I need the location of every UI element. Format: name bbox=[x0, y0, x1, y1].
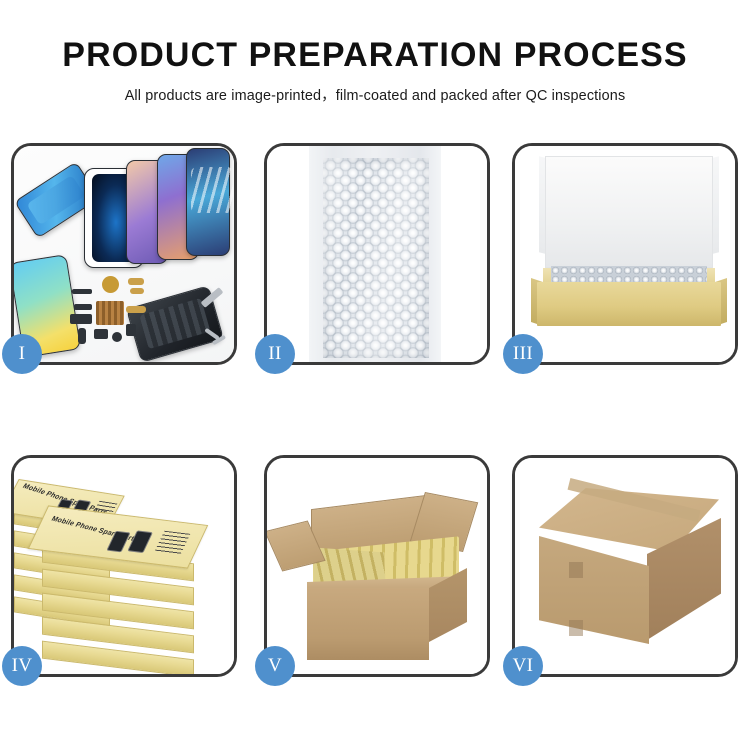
part-button bbox=[78, 328, 86, 344]
step-image-3 bbox=[515, 146, 735, 362]
steps-grid: I II III bbox=[0, 0, 750, 750]
step-badge-6: VI bbox=[503, 646, 543, 686]
step-image-5 bbox=[267, 458, 487, 674]
step-panel-2: II bbox=[264, 143, 490, 365]
inner-box-scene bbox=[515, 146, 735, 362]
box-stack: Mobile Phone Spare Parts Mobile Phone Sp… bbox=[14, 458, 234, 674]
white-box-lid bbox=[545, 156, 713, 268]
sealed-carton-scene bbox=[515, 458, 735, 674]
carton-hand-hole-bottom bbox=[569, 620, 583, 636]
bubble-wrap-scene bbox=[267, 146, 487, 362]
phone-parts-scene bbox=[14, 146, 234, 362]
step-panel-5: V bbox=[264, 455, 490, 677]
stacked-boxes-scene: Mobile Phone Spare Parts Mobile Phone Sp… bbox=[14, 458, 234, 674]
step-panel-6: VI bbox=[512, 455, 738, 677]
part-vibrator bbox=[112, 332, 122, 342]
box-product-photo-front-2 bbox=[127, 530, 153, 553]
step-image-6 bbox=[515, 458, 735, 674]
bubble-wrap-icon bbox=[323, 158, 429, 358]
step-badge-3: III bbox=[503, 334, 543, 374]
carton-hand-hole-top bbox=[569, 562, 583, 578]
part-bracket-a bbox=[74, 304, 92, 310]
part-flex-cable-a bbox=[128, 278, 144, 285]
step-badge-4: IV bbox=[2, 646, 42, 686]
kraft-box-front bbox=[537, 282, 721, 326]
part-bracket-b bbox=[70, 314, 92, 324]
box-spec-lines-front bbox=[155, 531, 191, 555]
part-speaker bbox=[72, 289, 92, 294]
open-carton-scene bbox=[267, 458, 487, 674]
step-badge-1: I bbox=[2, 334, 42, 374]
phone-blue-wave bbox=[186, 148, 230, 256]
part-wireless-coil bbox=[102, 276, 119, 293]
step-panel-4: Mobile Phone Spare Parts Mobile Phone Sp… bbox=[11, 455, 237, 677]
step-image-2 bbox=[267, 146, 487, 362]
step-image-4: Mobile Phone Spare Parts Mobile Phone Sp… bbox=[14, 458, 234, 674]
step-badge-2: II bbox=[255, 334, 295, 374]
step-badge-5: V bbox=[255, 646, 295, 686]
part-connector bbox=[126, 324, 136, 336]
step-image-1 bbox=[14, 146, 234, 362]
carton-front-panel bbox=[307, 588, 429, 660]
part-camera-module bbox=[94, 329, 108, 339]
step-panel-1: I bbox=[11, 143, 237, 365]
sealed-carton-front bbox=[539, 536, 649, 644]
part-logic-chip bbox=[96, 301, 124, 325]
step-panel-3: III bbox=[512, 143, 738, 365]
part-flex-cable-b bbox=[130, 288, 144, 294]
part-flex-cable-c bbox=[126, 306, 146, 313]
